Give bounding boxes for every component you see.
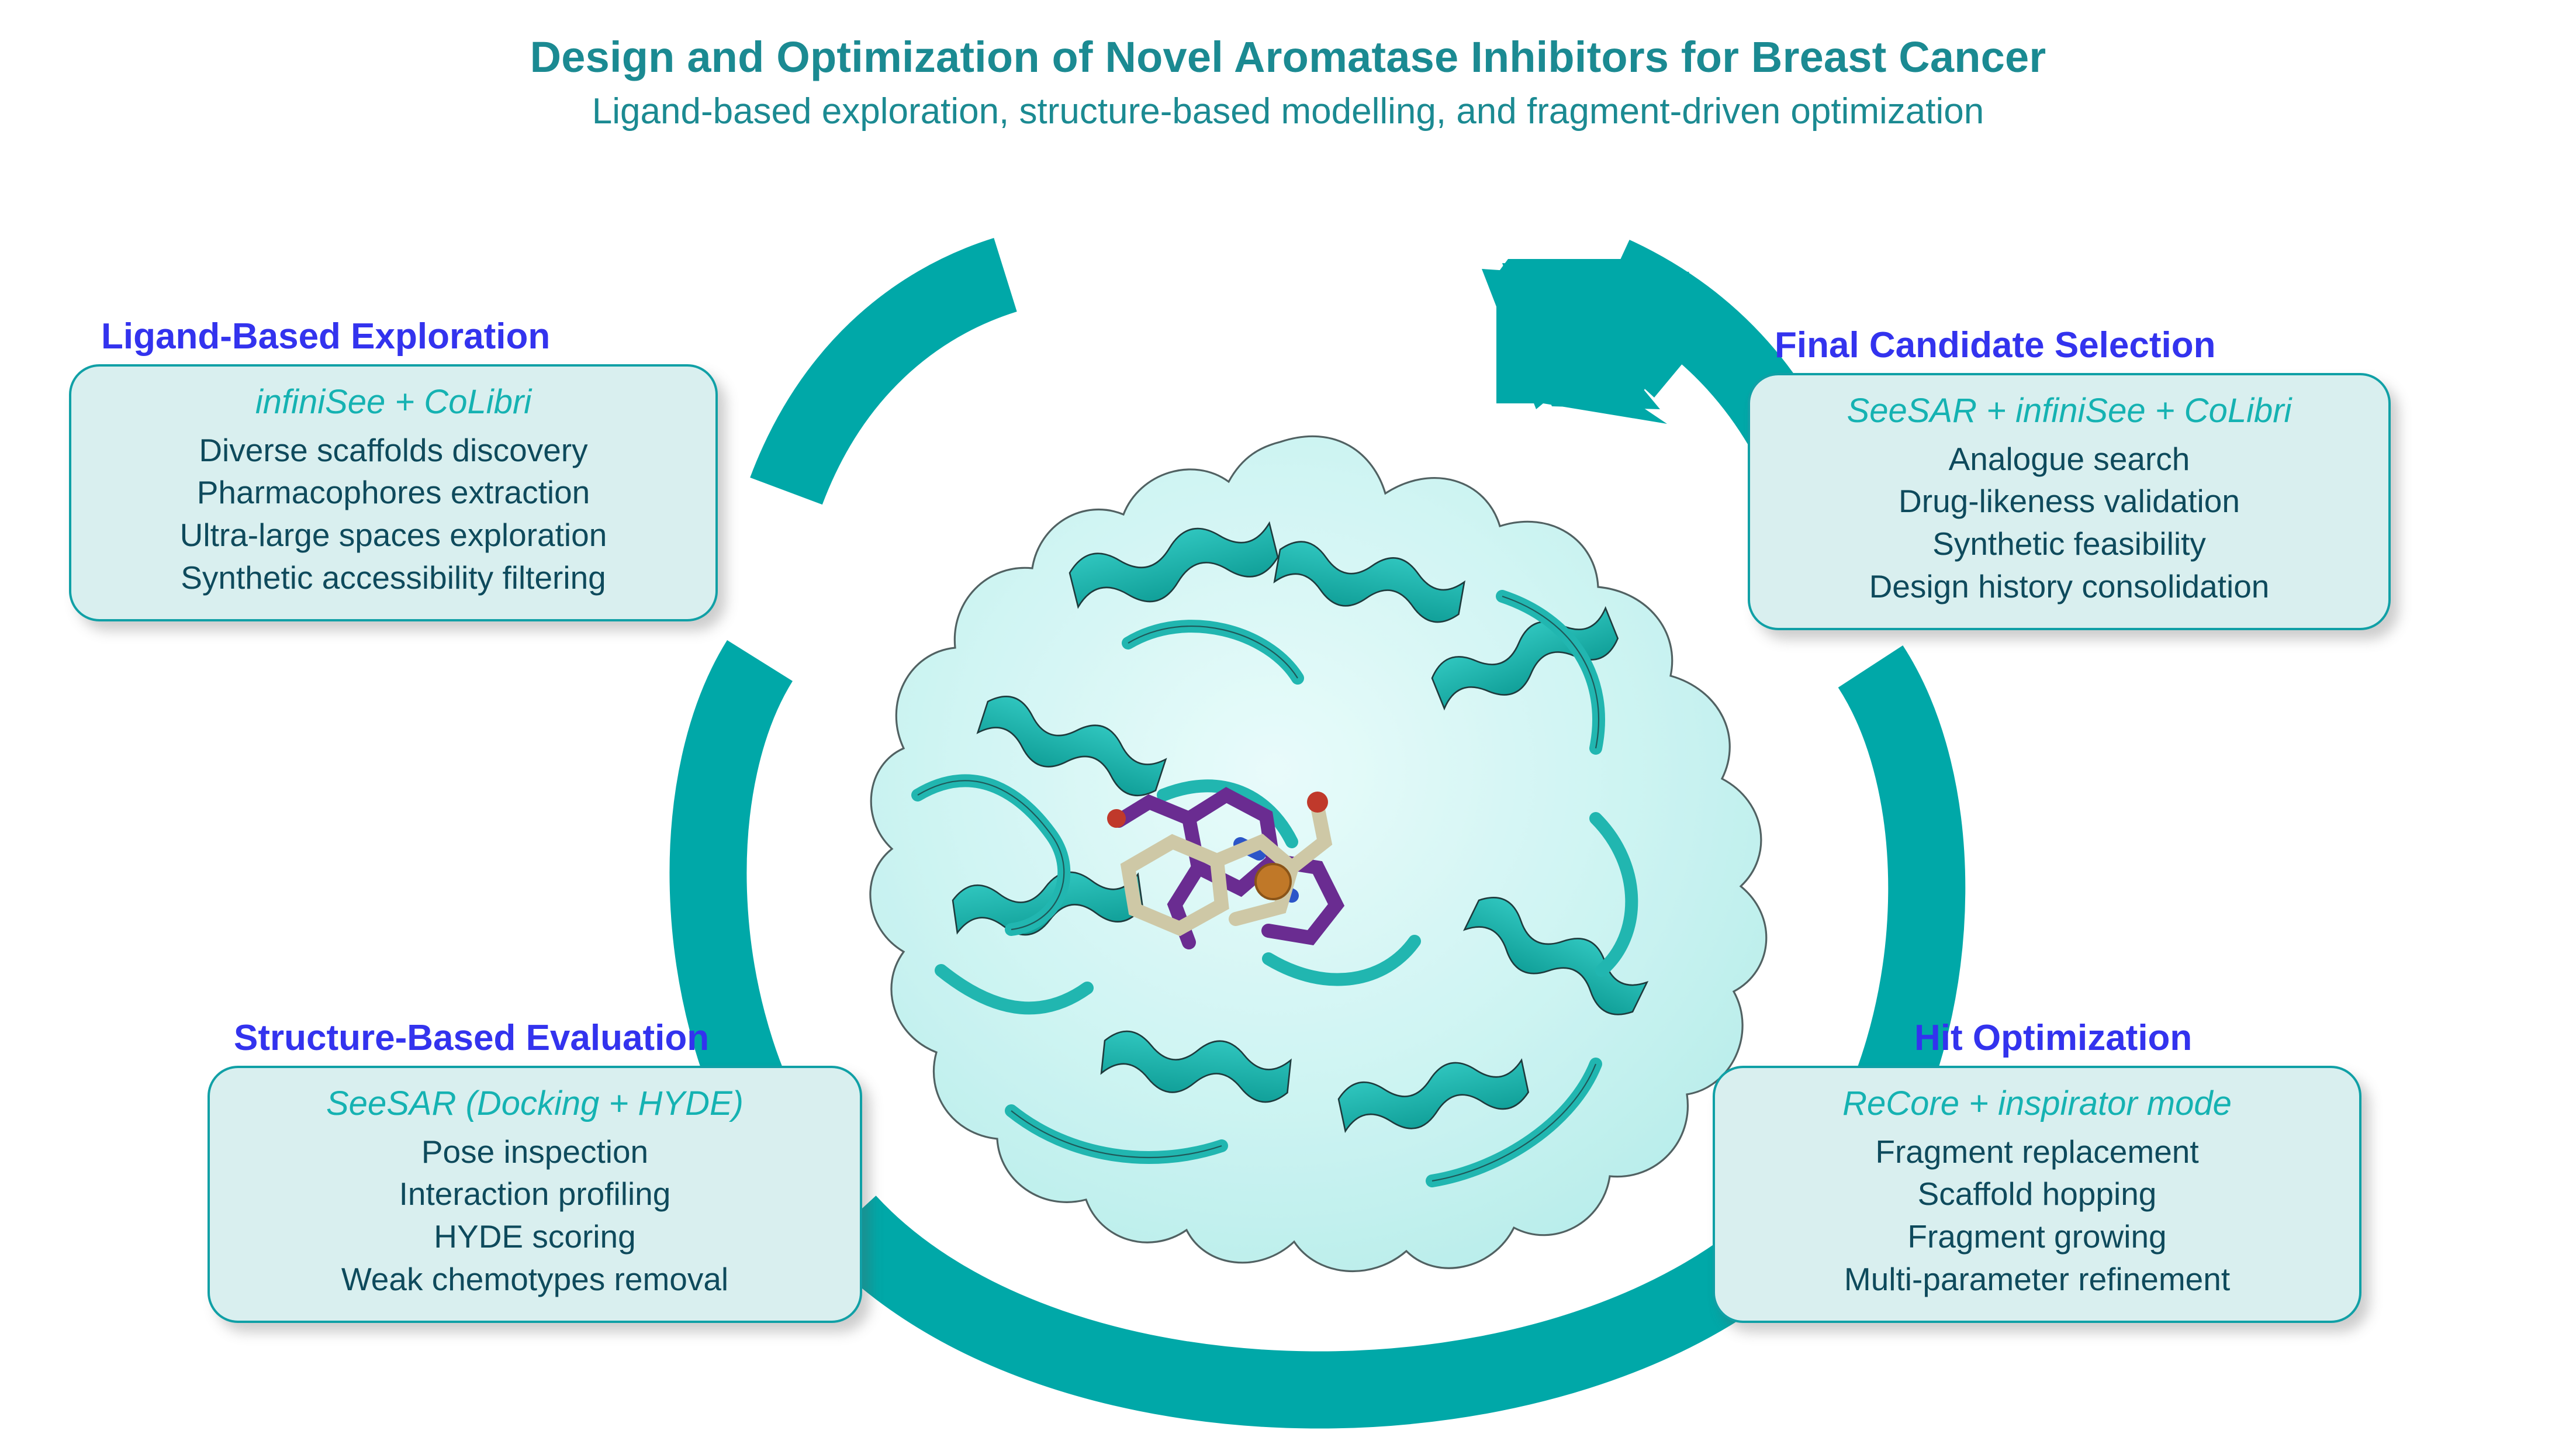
stage-bullet: HYDE scoring: [230, 1215, 840, 1258]
stage-heading-hit: Hit Optimization: [1713, 1020, 2361, 1056]
stage-box-hit[interactable]: ReCore + inspirator mode Fragment replac…: [1713, 1066, 2361, 1323]
stage-heading-final: Final Candidate Selection: [1748, 327, 2391, 364]
stage-bullet: Synthetic accessibility filtering: [91, 557, 696, 599]
protein-structure-graphic: [777, 409, 1830, 1286]
stage-bullet: Ultra-large spaces exploration: [91, 514, 696, 557]
heme-oxygen: [1107, 809, 1126, 828]
stage-box-structure[interactable]: SeeSAR (Docking + HYDE) Pose inspection …: [208, 1066, 862, 1323]
ligand-oxygen: [1307, 792, 1328, 813]
stage-bullet: Fragment growing: [1735, 1215, 2339, 1258]
stage-bullet: Multi-parameter refinement: [1735, 1258, 2339, 1301]
stage-bullet: Fragment replacement: [1735, 1131, 2339, 1173]
stage-tools-structure: SeeSAR (Docking + HYDE): [230, 1083, 840, 1125]
iron-center: [1256, 864, 1291, 899]
stage-bullet: Synthetic feasibility: [1770, 523, 2368, 565]
stage-box-ligand[interactable]: infiniSee + CoLibri Diverse scaffolds di…: [69, 364, 718, 621]
stage-bullet: Interaction profiling: [230, 1173, 840, 1215]
stage-bullet: Pose inspection: [230, 1131, 840, 1173]
stage-hit-optimization[interactable]: Hit Optimization ReCore + inspirator mod…: [1713, 1020, 2361, 1323]
stage-bullet: Scaffold hopping: [1735, 1173, 2339, 1215]
stage-bullet: Weak chemotypes removal: [230, 1258, 840, 1301]
stage-bullet: Diverse scaffolds discovery: [91, 429, 696, 472]
stage-bullet: Drug-likeness validation: [1770, 480, 2368, 523]
stage-tools-ligand: infiniSee + CoLibri: [91, 382, 696, 423]
stage-tools-final: SeeSAR + infiniSee + CoLibri: [1770, 391, 2368, 432]
stage-bullet: Analogue search: [1770, 438, 2368, 481]
stage-heading-structure: Structure-Based Evaluation: [208, 1020, 862, 1056]
stage-tools-hit: ReCore + inspirator mode: [1735, 1083, 2339, 1125]
stage-bullet: Design history consolidation: [1770, 565, 2368, 608]
stage-ligand-based-exploration[interactable]: Ligand-Based Exploration infiniSee + CoL…: [69, 319, 718, 621]
stage-structure-based-evaluation[interactable]: Structure-Based Evaluation SeeSAR (Docki…: [208, 1020, 862, 1323]
stage-heading-ligand: Ligand-Based Exploration: [69, 319, 718, 355]
stage-box-final[interactable]: SeeSAR + infiniSee + CoLibri Analogue se…: [1748, 373, 2391, 630]
stage-final-candidate-selection[interactable]: Final Candidate Selection SeeSAR + infin…: [1748, 327, 2391, 630]
stage-bullet: Pharmacophores extraction: [91, 471, 696, 514]
